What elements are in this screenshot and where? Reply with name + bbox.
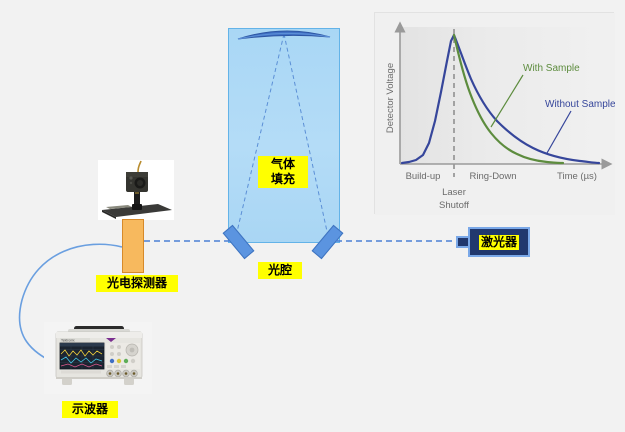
annotation-ring-down: Ring-Down [470, 171, 517, 182]
annotation-without-sample: Without Sample [545, 99, 615, 110]
chart-ylabel: Detector Voltage [385, 63, 396, 133]
annotation-with-sample: With Sample [523, 63, 580, 74]
photodetector-label: 光电探测器 [96, 275, 178, 292]
diagram-canvas: 气体 填充 光腔 [0, 0, 625, 432]
annotation-laser-shutoff-2: Shutoff [439, 200, 469, 211]
ring-down-chart-panel: Detector Voltage Build-up Ring-Down Time… [374, 12, 614, 214]
gas-fill-label: 气体 填充 [258, 156, 308, 188]
oscilloscope-label: 示波器 [62, 401, 118, 418]
ring-down-chart: Detector Voltage Build-up Ring-Down Time… [375, 13, 615, 215]
photodetector-block [122, 219, 144, 273]
annotation-build-up: Build-up [406, 171, 441, 182]
oscilloscope-photo: Tektronix [44, 322, 152, 394]
photodetector-photo [98, 160, 174, 220]
laser-source-box: 激光器 [468, 227, 530, 257]
cavity-label: 光腔 [258, 262, 302, 279]
chart-xlabel: Time (µs) [557, 171, 597, 182]
laser-label: 激光器 [479, 235, 519, 250]
svg-text:Tektronix: Tektronix [61, 339, 75, 343]
annotation-laser-shutoff-1: Laser [442, 187, 466, 198]
